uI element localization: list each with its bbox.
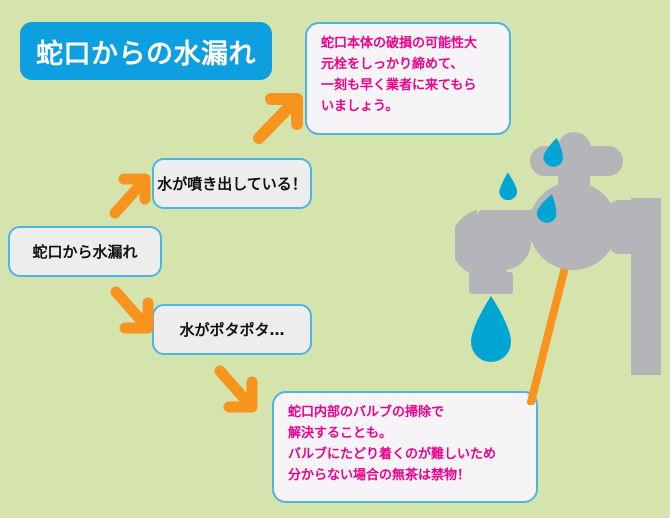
- symptom-box-label: 蛇口から水漏れ: [32, 241, 137, 262]
- page-title: 蛇口からの水漏れ: [20, 22, 272, 80]
- infographic-canvas: 蛇口からの水漏れ 蛇口本体の破損の可能性大 元栓をしっかり締めて、 一刻も早く業…: [0, 0, 670, 518]
- callout-line: 蛇口本体の破損の可能性大: [321, 33, 495, 54]
- symptom-box-label: 水がポタポタ…: [179, 319, 284, 340]
- page-title-text: 蛇口からの水漏れ: [36, 32, 256, 71]
- arrow-down-right-icon: [110, 285, 156, 335]
- callout-line: 解決することも。: [288, 423, 522, 444]
- arrow-up-right-icon: [252, 90, 308, 146]
- arrow-up-right-icon: [110, 172, 154, 218]
- callout-line: バルブにたどり着くのが難しいため: [288, 444, 522, 465]
- callout-line: 元栓をしっかり締めて、: [321, 54, 495, 75]
- callout-line: 一刻も早く業者に来てもら: [321, 75, 495, 96]
- symptom-box-root: 蛇口から水漏れ: [8, 226, 162, 277]
- callout-line: 分からない場合の無茶は禁物！: [288, 465, 522, 486]
- faucet-icon: [455, 130, 670, 375]
- arrow-down-right-icon: [214, 364, 260, 414]
- callout-line: いましょう。: [321, 96, 495, 117]
- callout-severe-damage: 蛇口本体の破損の可能性大 元栓をしっかり締めて、 一刻も早く業者に来てもら いま…: [305, 22, 511, 135]
- symptom-box-label: 水が噴き出している！: [157, 173, 307, 194]
- water-drop-icon: [471, 296, 511, 362]
- symptom-box-dripping: 水がポタポタ…: [152, 304, 312, 355]
- symptom-box-spurting: 水が噴き出している！: [152, 158, 312, 209]
